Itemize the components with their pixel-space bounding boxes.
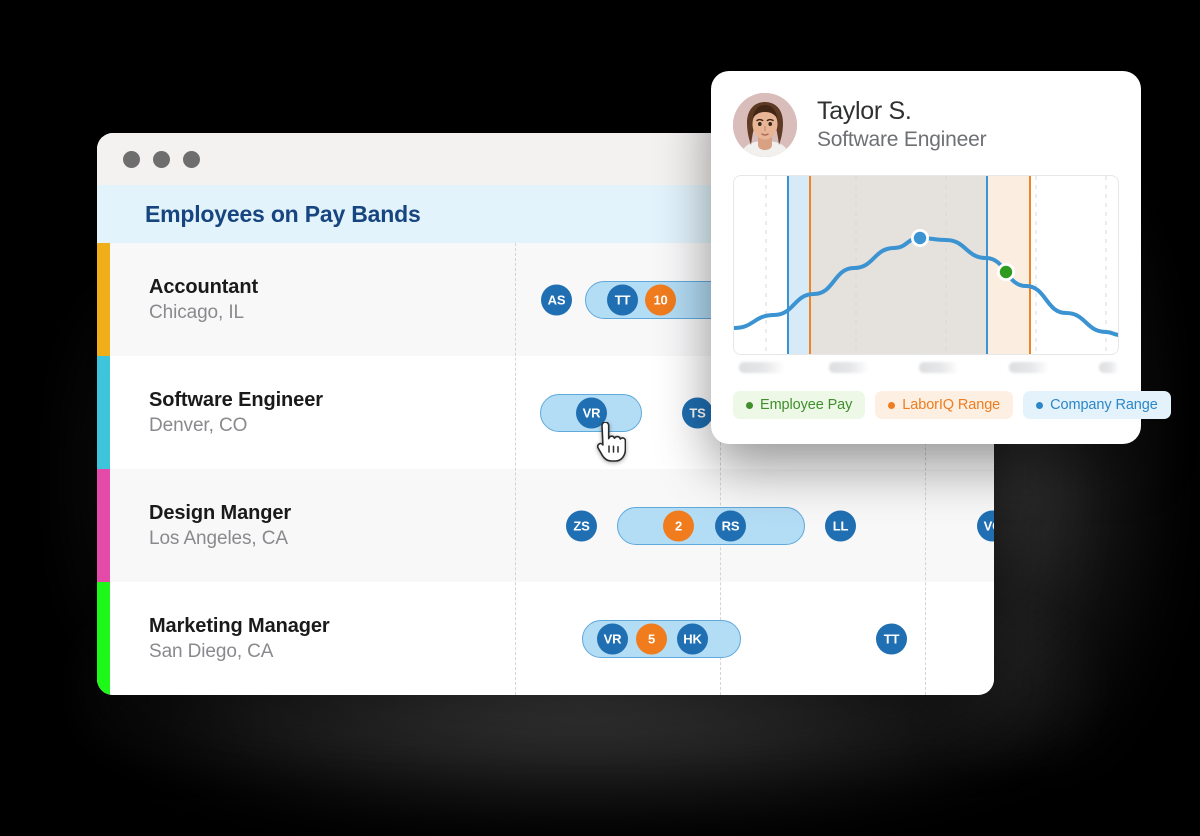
pay-band-range[interactable] xyxy=(617,507,805,545)
row-pay-band-plot: ZS2RSLLVC xyxy=(427,469,994,582)
card-header: Taylor S. Software Engineer xyxy=(733,93,1119,157)
legend-item[interactable]: Company Range xyxy=(1023,391,1171,419)
row-label: Software EngineerDenver, CO xyxy=(97,389,427,437)
employee-badge[interactable]: TT xyxy=(876,623,907,654)
axis-tick-placeholder-0 xyxy=(739,362,785,373)
employee-badge[interactable]: 2 xyxy=(663,510,694,541)
pay-distribution-chart xyxy=(733,175,1119,355)
row-label: Marketing ManagerSan Diego, CA xyxy=(97,615,427,663)
axis-tick-placeholder-1 xyxy=(829,362,869,373)
minimize-icon[interactable] xyxy=(153,151,170,168)
job-location: San Diego, CA xyxy=(149,641,427,663)
scene-root: Employees on Pay Bands AccountantChicago… xyxy=(0,0,1200,836)
chart-axis-tick-labels xyxy=(733,358,1119,382)
employee-badge[interactable]: RS xyxy=(715,510,746,541)
legend-dot-icon xyxy=(888,402,895,409)
job-title: Marketing Manager xyxy=(149,615,427,638)
row-label: AccountantChicago, IL xyxy=(97,276,427,324)
legend-label: Employee Pay xyxy=(760,397,852,413)
bell-curve-svg xyxy=(734,176,1119,355)
job-location: Los Angeles, CA xyxy=(149,528,427,550)
employee-badge[interactable]: VR xyxy=(576,397,607,428)
employee-badge[interactable]: TS xyxy=(682,397,713,428)
employee-badge[interactable]: HK xyxy=(677,623,708,654)
page-title: Employees on Pay Bands xyxy=(145,201,421,228)
legend-item[interactable]: LaborIQ Range xyxy=(875,391,1013,419)
avatar-photo-icon xyxy=(733,93,797,157)
employee-pay-marker[interactable] xyxy=(1000,266,1012,278)
employee-badge[interactable]: AS xyxy=(541,284,572,315)
employee-badge[interactable]: ZS xyxy=(566,510,597,541)
row-pay-band-plot: VR5HKTT xyxy=(427,582,994,695)
job-title: Accountant xyxy=(149,276,427,299)
employee-detail-card: Taylor S. Software Engineer Employee Pay… xyxy=(711,71,1141,444)
chart-legend: Employee PayLaborIQ RangeCompany Range xyxy=(733,391,1119,419)
job-location: Chicago, IL xyxy=(149,302,427,324)
row-label: Design MangerLos Angeles, CA xyxy=(97,502,427,550)
legend-item[interactable]: Employee Pay xyxy=(733,391,865,419)
employee-badge[interactable]: 5 xyxy=(636,623,667,654)
laboriq-core-band xyxy=(810,176,987,355)
employee-badge[interactable]: VC xyxy=(977,510,994,541)
legend-dot-icon xyxy=(1036,402,1043,409)
job-title: Design Manger xyxy=(149,502,427,525)
employee-badge[interactable]: LL xyxy=(825,510,856,541)
avatar xyxy=(733,93,797,157)
employee-name: Taylor S. xyxy=(817,97,986,127)
axis-tick-placeholder-3 xyxy=(1009,362,1049,373)
employee-role: Software Engineer xyxy=(817,127,986,153)
legend-label: LaborIQ Range xyxy=(902,397,1000,413)
table-row[interactable]: Marketing ManagerSan Diego, CAVR5HKTT xyxy=(97,582,994,695)
job-title: Software Engineer xyxy=(149,389,427,412)
company-range-band xyxy=(788,176,810,355)
table-row[interactable]: Design MangerLos Angeles, CAZS2RSLLVC xyxy=(97,469,994,582)
company-midpoint-marker[interactable] xyxy=(914,232,926,244)
employee-badge[interactable]: VR xyxy=(597,623,628,654)
job-location: Denver, CO xyxy=(149,415,427,437)
legend-label: Company Range xyxy=(1050,397,1158,413)
axis-tick-placeholder-4 xyxy=(1099,362,1119,373)
legend-dot-icon xyxy=(746,402,753,409)
close-icon[interactable] xyxy=(123,151,140,168)
employee-badge[interactable]: 10 xyxy=(645,284,676,315)
axis-tick-placeholder-2 xyxy=(919,362,959,373)
maximize-icon[interactable] xyxy=(183,151,200,168)
employee-badge[interactable]: TT xyxy=(607,284,638,315)
card-identity: Taylor S. Software Engineer xyxy=(817,97,986,153)
